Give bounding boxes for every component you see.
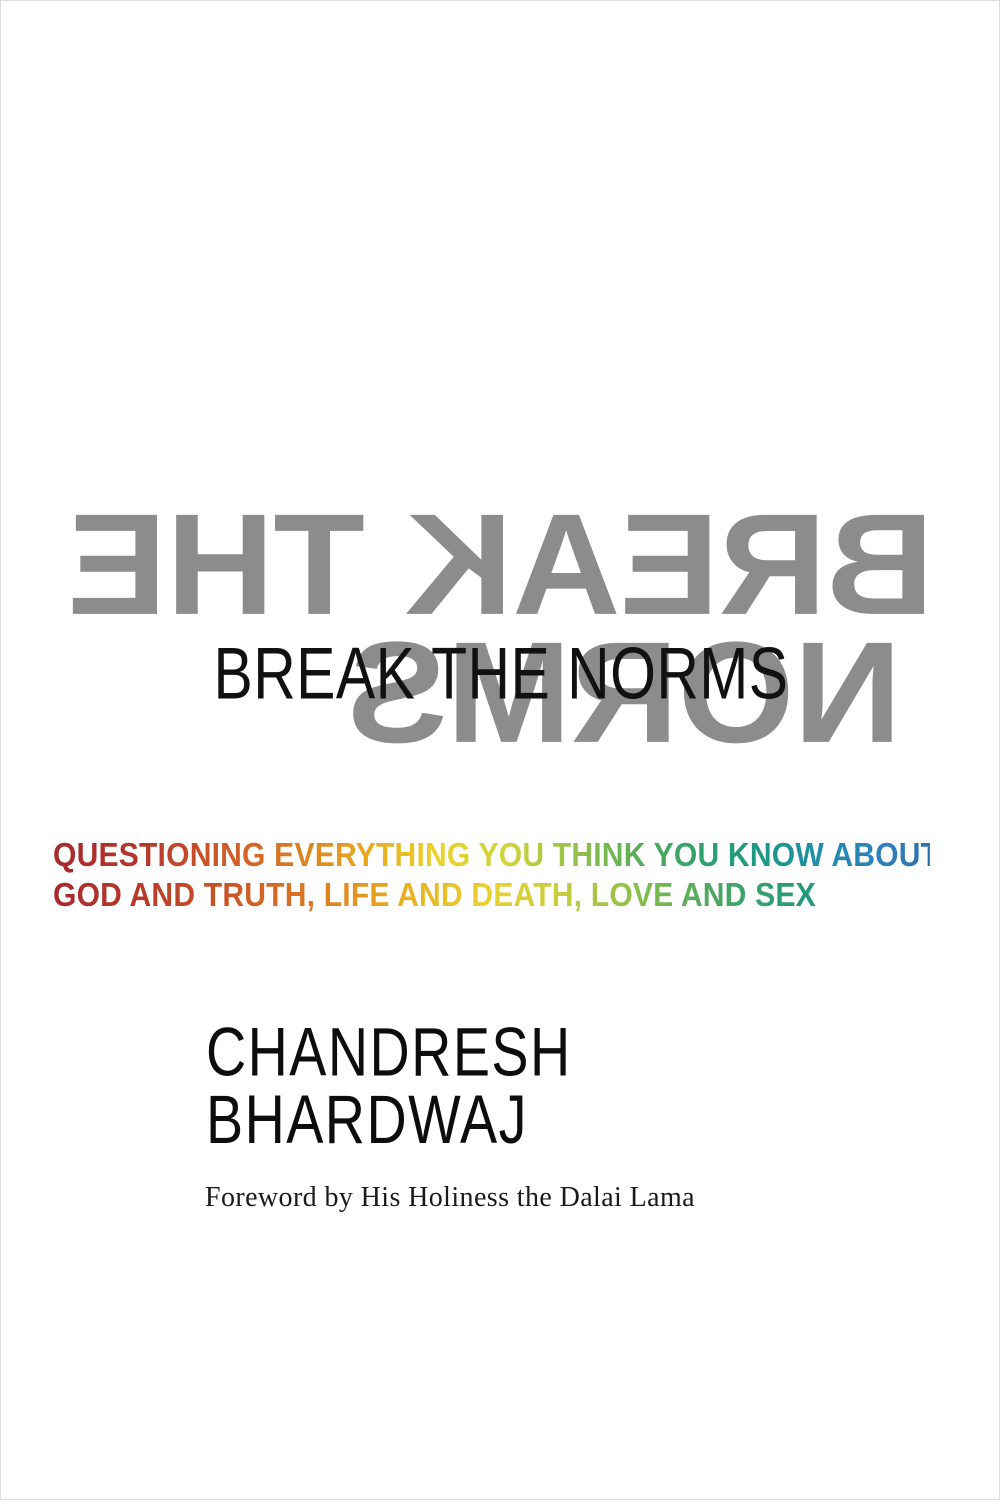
book-title: BREAK THE NORMS: [41, 637, 961, 710]
book-subtitle: QUESTIONING EVERYTHING YOU THINK YOU KNO…: [53, 835, 957, 915]
subtitle-line-2: GOD AND TRUTH, LIFE AND DEATH, LOVE AND …: [53, 873, 930, 916]
subtitle-line-1: QUESTIONING EVERYTHING YOU THINK YOU KNO…: [53, 833, 930, 876]
book-cover: BREAK THE NORMS BREAK THE NORMS QUESTION…: [0, 0, 1000, 1500]
author-name: CHANDRESH BHARDWAJ: [206, 1019, 572, 1154]
author-last-name: BHARDWAJ: [206, 1086, 572, 1153]
author-first-name: CHANDRESH: [206, 1019, 572, 1086]
foreword-credit: Foreword by His Holiness the Dalai Lama: [205, 1181, 695, 1215]
